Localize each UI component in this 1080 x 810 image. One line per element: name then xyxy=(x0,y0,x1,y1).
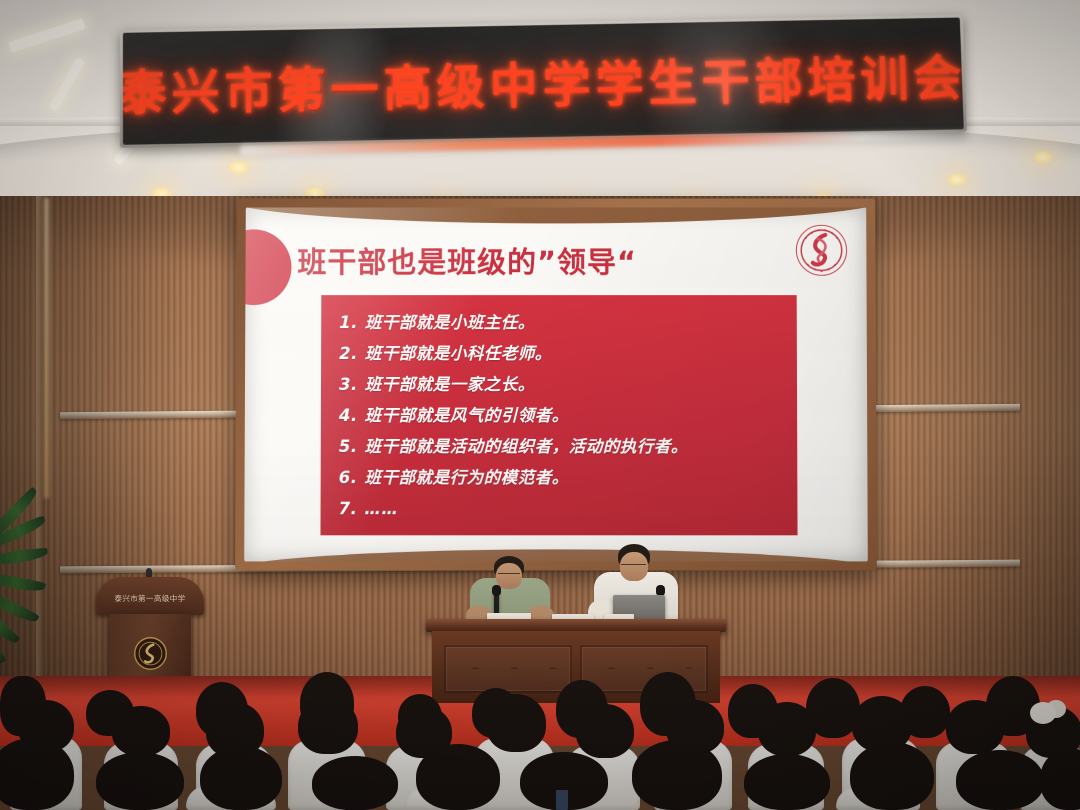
lectern-header: 泰兴市第一高级中学 xyxy=(96,577,204,615)
student-head xyxy=(728,684,778,738)
slide-list-item: 1.班干部就是小班主任。 xyxy=(339,307,781,338)
student-head xyxy=(472,688,520,738)
slide-list-item: 2.班干部就是小科任老师。 xyxy=(339,338,781,369)
table-panel xyxy=(444,645,572,693)
student-head xyxy=(398,694,442,738)
list-text: 班干部就是行为的模范者。 xyxy=(364,468,568,487)
student-head xyxy=(416,744,500,810)
microphone-head xyxy=(492,585,501,596)
student-head xyxy=(196,682,248,738)
student-head xyxy=(956,750,1044,810)
student-head xyxy=(900,686,950,738)
student-head xyxy=(744,754,830,810)
list-number: 3. xyxy=(339,375,358,394)
list-text: 班干部就是小科任老师。 xyxy=(365,344,552,363)
list-text: …… xyxy=(364,499,398,518)
list-text: 班干部就是一家之长。 xyxy=(365,375,535,394)
slide-list-item: 7.…… xyxy=(339,493,782,524)
student-head xyxy=(0,738,74,810)
screen-top-curve xyxy=(244,208,868,224)
uniform-tie xyxy=(556,790,568,810)
student-head xyxy=(632,740,722,810)
student-head xyxy=(86,690,134,736)
slide-list-item: 6.班干部就是行为的模范者。 xyxy=(339,462,782,493)
downlight-icon xyxy=(228,160,250,175)
hair-tie xyxy=(1030,702,1056,724)
potted-plant xyxy=(0,528,70,668)
student-head xyxy=(806,678,860,738)
speaker-left-glasses-icon xyxy=(498,573,520,577)
student-head xyxy=(640,672,696,736)
led-screen: 泰兴市第一高级中学学生干部培训会 xyxy=(123,18,964,145)
student-head xyxy=(200,746,282,810)
slide-title: 班干部也是班级的”领导“ xyxy=(297,239,637,281)
slide-content-box: 1.班干部就是小班主任。 2.班干部就是小科任老师。 3.班干部就是一家之长。 … xyxy=(320,295,797,535)
list-text: 班干部就是小班主任。 xyxy=(365,313,535,332)
list-text: 班干部就是活动的组织者，活动的执行者。 xyxy=(365,437,688,456)
projection-screen-frame: 班干部也是班级的”领导“ 1.班干部就是小班主任。 2.班干部就是小科任老师。 … xyxy=(235,199,877,571)
downlight-icon xyxy=(946,172,968,187)
list-number: 7. xyxy=(339,499,358,518)
list-number: 5. xyxy=(339,437,358,456)
student-head xyxy=(312,756,398,810)
event-banner: 泰兴市第一高级中学学生干部培训会 xyxy=(120,15,967,148)
slide-list-item: 3.班干部就是一家之长。 xyxy=(339,369,781,400)
student-head xyxy=(850,742,934,810)
screen-bottom-curve xyxy=(244,549,868,561)
list-text: 班干部就是风气的引领者。 xyxy=(365,406,569,425)
lectern: 泰兴市第一高级中学 xyxy=(96,577,204,687)
student-head xyxy=(96,752,184,810)
student-head xyxy=(300,672,354,734)
table-molding xyxy=(456,667,564,679)
list-number: 1. xyxy=(339,313,358,332)
auditorium-photo: 泰兴市第一高级中学学生干部培训会 班干部也是班级的”领导“ xyxy=(0,0,1080,810)
list-number: 2. xyxy=(339,344,358,363)
banner-frame: 泰兴市第一高级中学学生干部培训会 xyxy=(120,15,967,148)
lectern-school-name: 泰兴市第一高级中学 xyxy=(96,593,204,604)
lectern-emblem-icon xyxy=(133,636,168,671)
list-number: 6. xyxy=(339,468,358,487)
list-number: 4. xyxy=(339,406,358,425)
student-head xyxy=(556,680,608,738)
slide-accent-circle xyxy=(244,229,291,305)
speaker-right-glasses-icon xyxy=(621,564,646,568)
school-emblem-icon xyxy=(792,221,850,279)
slide-list-item: 4.班干部就是风气的引领者。 xyxy=(339,400,781,431)
slide-list-item: 5.班干部就是活动的组织者，活动的执行者。 xyxy=(339,431,782,462)
presentation-slide: 班干部也是班级的”领导“ 1.班干部就是小班主任。 2.班干部就是小科任老师。 … xyxy=(244,208,868,562)
student-head xyxy=(0,676,46,736)
banner-title: 泰兴市第一高级中学学生干部培训会 xyxy=(123,38,964,123)
wall-shadow-right xyxy=(880,196,1080,696)
downlight-icon xyxy=(1032,150,1054,165)
